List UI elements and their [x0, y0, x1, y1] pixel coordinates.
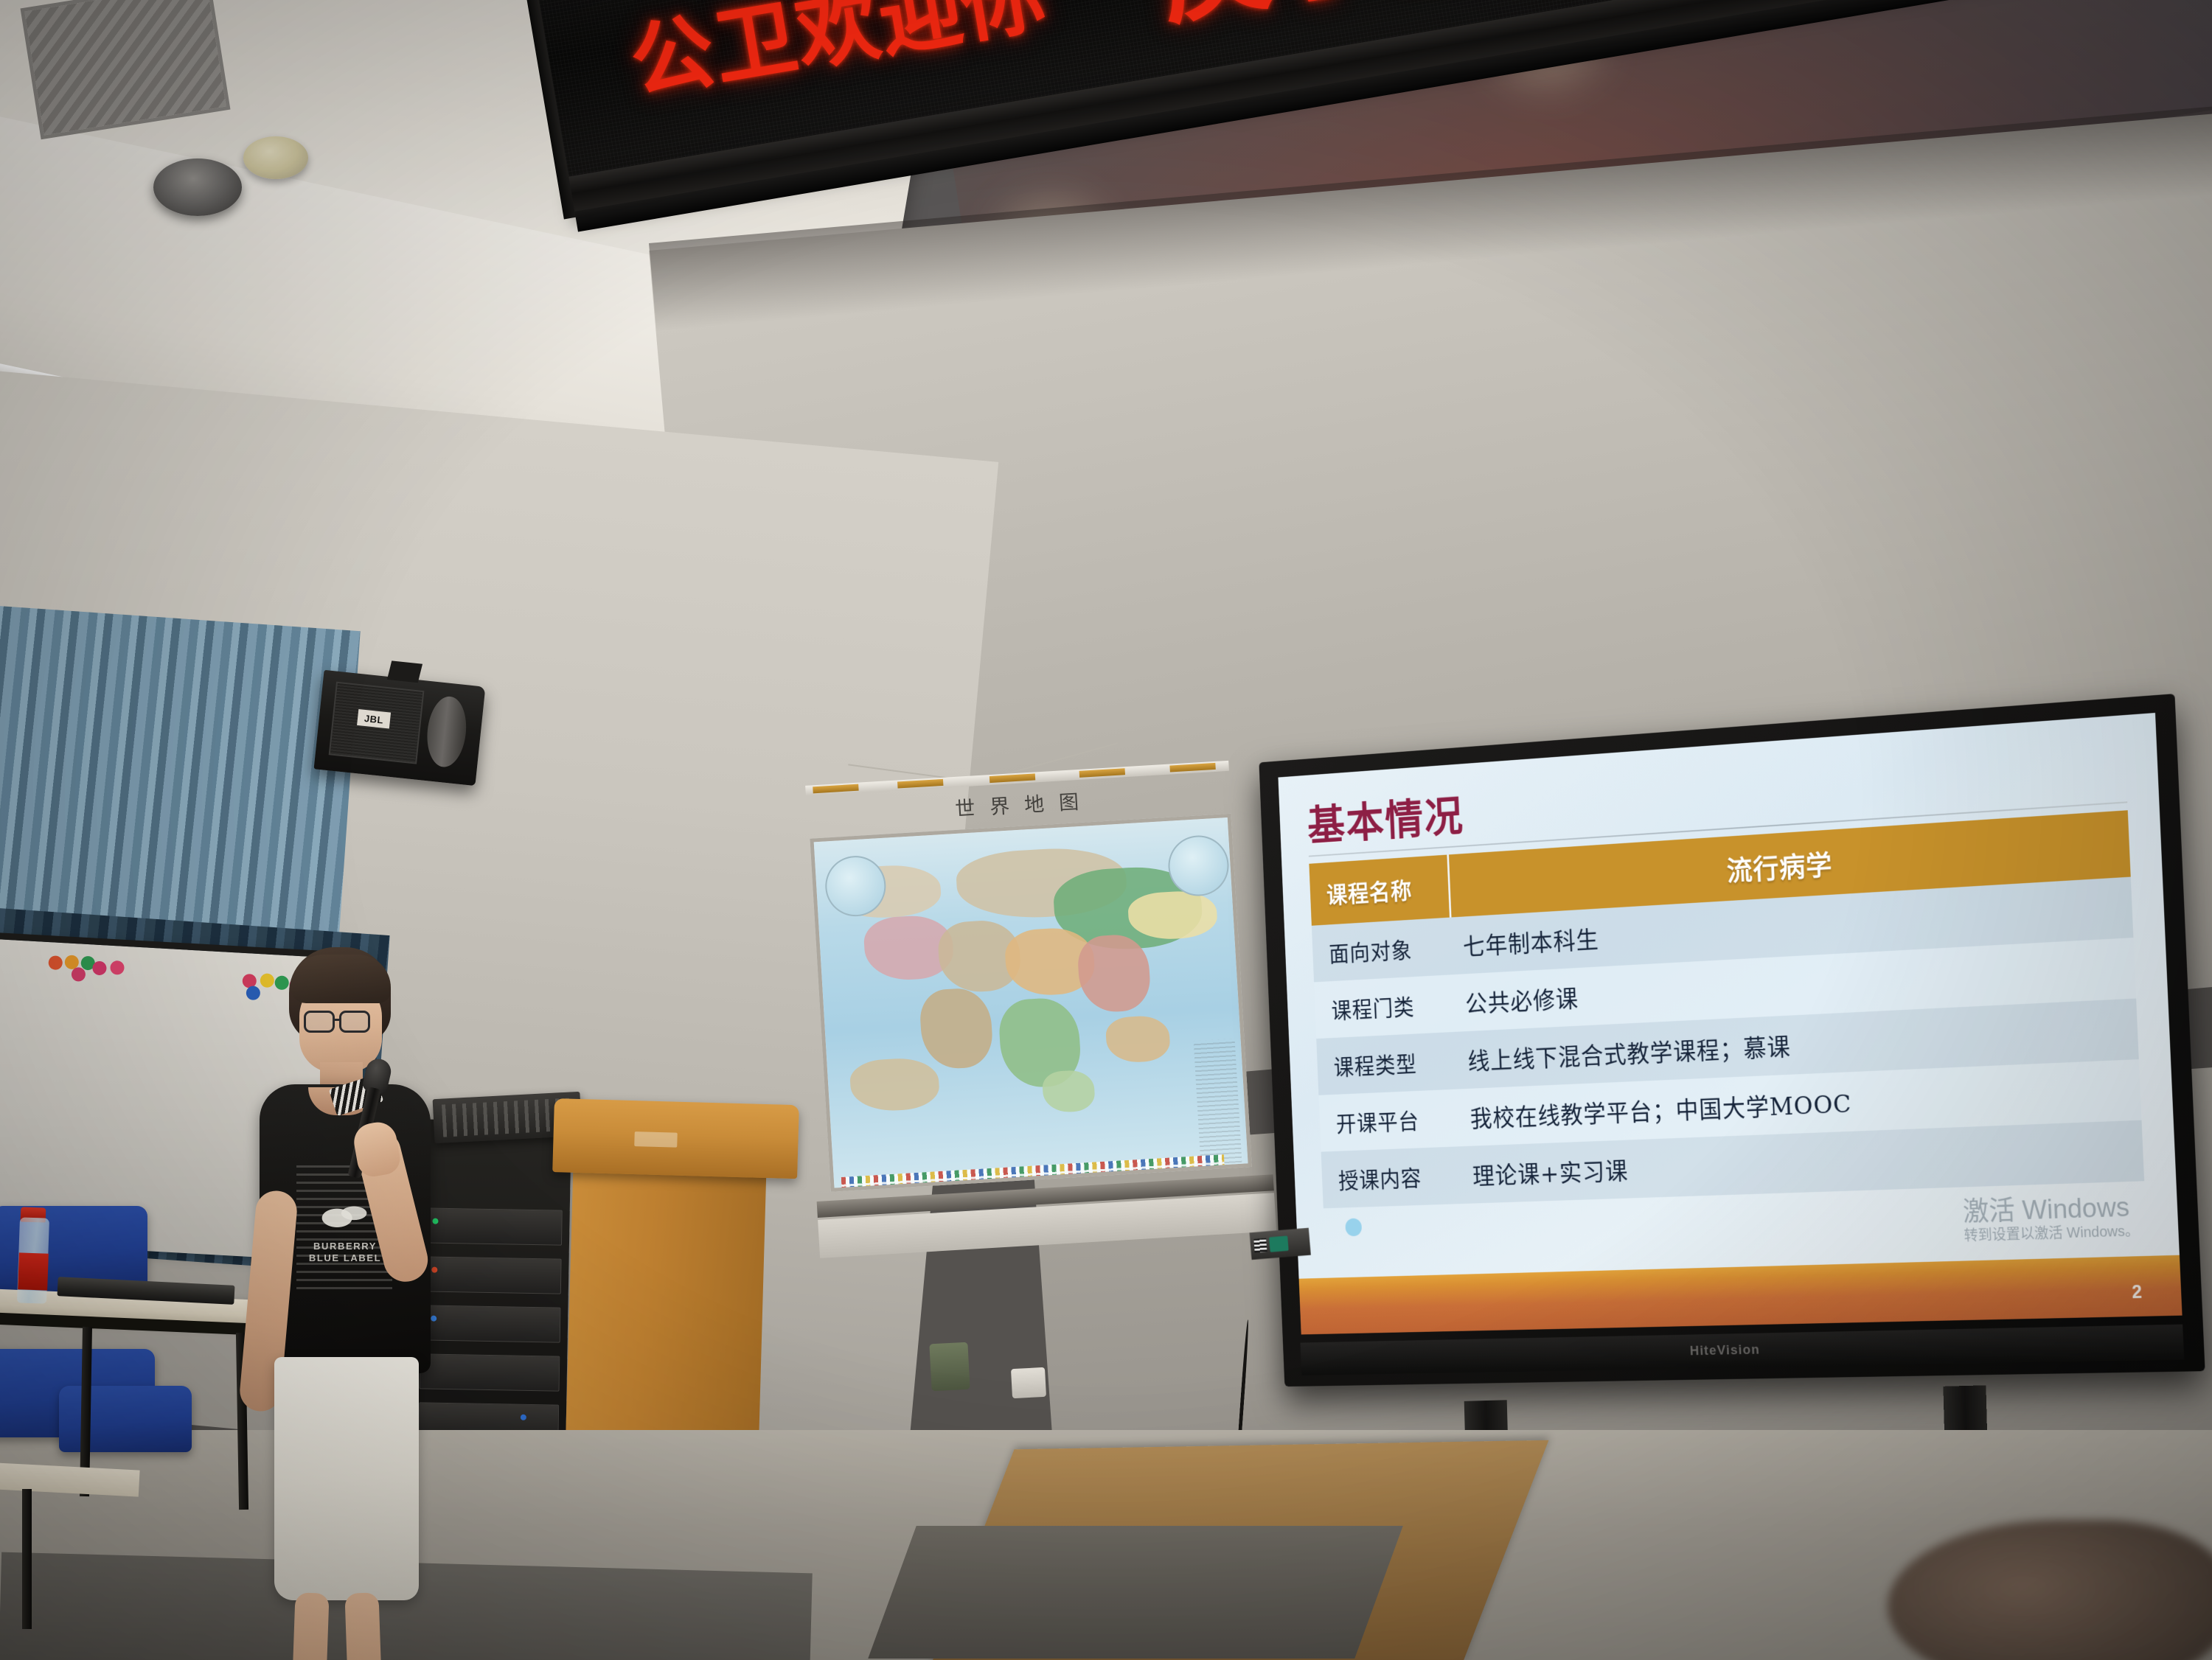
slide-footer-band: 2: [1299, 1255, 2183, 1335]
ceiling-speaker-icon: [153, 158, 242, 216]
speaker-brand-label: JBL: [357, 709, 391, 728]
lectern-top: [552, 1098, 799, 1179]
stage-front-face: [868, 1526, 1403, 1659]
glasses-left-lens-icon: [304, 1011, 335, 1033]
display-chin-bar: HiteVision: [1300, 1325, 2184, 1375]
table-leg: [22, 1489, 32, 1629]
chair[interactable]: [59, 1386, 192, 1452]
rack-status-led: [521, 1415, 526, 1420]
display-side-badge: [1250, 1228, 1311, 1260]
wall-speaker: JBL: [314, 670, 486, 786]
equestrian-knight-logo-icon: [314, 1195, 375, 1235]
presenter-left-leg: [291, 1592, 329, 1660]
pompom-decoration: [92, 960, 107, 975]
shirt-brand-line-2: BLUE LABEL: [298, 1252, 392, 1264]
green-sticker-icon: [1269, 1235, 1289, 1252]
presenter-right-leg: [344, 1592, 382, 1660]
row-key: 开课平台: [1318, 1089, 1459, 1152]
watermark-line-1: 激活 Windows: [1962, 1192, 2138, 1228]
row-key: 课程门类: [1314, 974, 1455, 1039]
shirt-brand-text: BURBERRY BLUE LABEL: [298, 1241, 392, 1264]
bottle-label: [18, 1252, 49, 1290]
lectern-logo-plate: [634, 1131, 678, 1148]
speaker-tweeter-icon: [424, 694, 470, 769]
presenter-skirt: [274, 1357, 419, 1600]
map-title: 世界地图: [902, 782, 1147, 826]
display-screen[interactable]: 基本情况 课程名称 流行病学 面向对象 七年制本科生: [1278, 713, 2182, 1334]
row-key: 授课内容: [1321, 1146, 1463, 1208]
display-brand-label: HiteVision: [1689, 1342, 1760, 1359]
wall-outlet-box: [929, 1342, 970, 1392]
smiley-icon: [1345, 1218, 1362, 1236]
presenter: BURBERRY BLUE LABEL: [243, 947, 450, 1647]
course-info-table: 课程名称 流行病学 面向对象 七年制本科生 课程门类 公共必修课: [1309, 810, 2144, 1208]
interactive-display[interactable]: 基本情况 课程名称 流行病学 面向对象 七年制本科生: [1180, 693, 2212, 1430]
presenter-fringe: [291, 955, 391, 1003]
glasses-right-lens-icon: [339, 1011, 370, 1033]
speaker-mount-bracket: [387, 660, 422, 683]
slide-page-number: 2: [2132, 1282, 2143, 1303]
pompom-decoration: [110, 960, 125, 975]
presentation-slide: 基本情况 课程名称 流行病学 面向对象 七年制本科生: [1278, 713, 2182, 1334]
row-key: 面向对象: [1312, 918, 1453, 983]
wall-power-socket[interactable]: [1011, 1367, 1046, 1398]
glasses-bridge-icon: [335, 1019, 341, 1021]
row-key: 课程类型: [1316, 1032, 1457, 1095]
table-header-key: 课程名称: [1309, 855, 1450, 926]
smoke-detector-icon: [243, 136, 308, 179]
pompom-decoration: [48, 955, 63, 970]
pompom-decoration: [71, 967, 86, 982]
display-bezel: 基本情况 课程名称 流行病学 面向对象 七年制本科生: [1259, 694, 2205, 1387]
classroom-scene: 公卫欢迎你 庚子记“疫”——记为师 JBL 世界地图: [0, 0, 2212, 1660]
windows-activation-watermark: 激活 Windows 转到设置以激活 Windows。: [1962, 1192, 2139, 1245]
qr-code-icon: [1253, 1238, 1267, 1253]
